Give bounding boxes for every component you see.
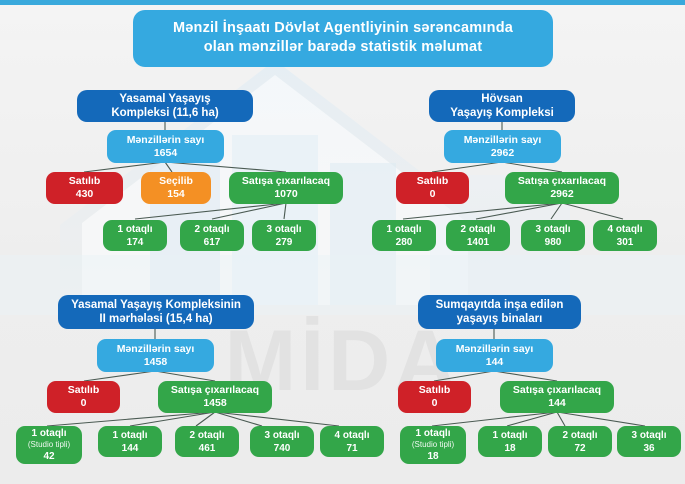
root-label-line-1: Yasamal Yaşayış [119,92,210,106]
sale-value: 2962 [550,188,573,201]
sold-value: 0 [81,397,87,410]
block-sale-sumqayit[interactable]: Satışa çıxarılacaq 144 [500,381,614,413]
block-root-yasamal-2[interactable]: Yasamal Yaşayış Kompleksinin II mərhələs… [58,295,254,329]
room-label: 1 otaqlı [31,427,66,440]
room-box[interactable]: 3 otaqlı 740 [250,426,314,457]
count-value: 144 [486,356,504,369]
room-sublabel: (Studio tipli) [28,440,70,450]
room-label: 3 otaqlı [631,429,666,442]
sold-label: Satılıb [419,384,451,397]
sale-value: 1458 [203,397,226,410]
count-label: Mənzillərin sayı [127,134,205,147]
block-sold-hovsan[interactable]: Satılıb 0 [396,172,469,204]
root-label-line-1: Sumqayıtda inşa edilən [436,298,564,312]
room-value: 279 [276,236,293,249]
room-label: 3 otaqlı [266,223,301,236]
room-value: 1401 [467,236,489,249]
block-sold-yasamal-2[interactable]: Satılıb 0 [47,381,120,413]
sold-label: Satılıb [68,384,100,397]
room-value: 144 [122,442,139,455]
room-box[interactable]: 2 otaqlı 461 [175,426,239,457]
room-value: 980 [545,236,562,249]
room-value: 36 [643,442,654,455]
count-label: Mənzillərin sayı [117,343,195,356]
sale-label: Satışa çıxarılacaq [518,175,606,188]
room-label: 1 otaqlı [415,427,450,440]
count-label: Mənzillərin sayı [464,134,542,147]
sold-value: 430 [76,188,94,201]
room-label: 2 otaqlı [562,429,597,442]
block-sale-hovsan[interactable]: Satışa çıxarılacaq 2962 [505,172,619,204]
room-value: 740 [274,442,291,455]
block-root-yasamal-1[interactable]: Yasamal Yaşayış Kompleksi (11,6 ha) [77,90,253,122]
room-box[interactable]: 2 otaqlı 72 [548,426,612,457]
room-value: 174 [127,236,144,249]
sale-value: 144 [548,397,566,410]
block-selected-yasamal-1[interactable]: Seçilib 154 [141,172,211,204]
room-label: 1 otaqlı [386,223,421,236]
sale-label: Satışa çıxarılacaq [242,175,330,188]
room-label: 1 otaqlı [112,429,147,442]
room-value: 280 [396,236,413,249]
room-value: 617 [204,236,221,249]
selected-label: Seçilib [159,175,193,188]
room-value: 18 [504,442,515,455]
room-label: 2 otaqlı [189,429,224,442]
room-box[interactable]: 1 otaqlı (Studio tipli) 42 [16,426,82,464]
count-value: 1654 [154,147,177,160]
room-box[interactable]: 3 otaqlı 279 [252,220,316,251]
room-box[interactable]: 1 otaqlı 174 [103,220,167,251]
block-root-hovsan[interactable]: Hövsan Yaşayış Kompleksi [429,90,575,122]
sale-label: Satışa çıxarılacaq [171,384,259,397]
page-title-line-2: olan mənzillər barədə statistik məlumat [139,38,547,57]
block-count-yasamal-2[interactable]: Mənzillərin sayı 1458 [97,339,214,372]
room-box[interactable]: 2 otaqlı 1401 [446,220,510,251]
room-value: 301 [617,236,634,249]
room-sublabel: (Studio tipli) [412,440,454,450]
room-label: 1 otaqlı [492,429,527,442]
page-title-line-1: Mənzil İnşaatı Dövlət Agentliyinin sərən… [139,19,547,38]
room-box[interactable]: 2 otaqlı 617 [180,220,244,251]
room-value: 72 [574,442,585,455]
selected-value: 154 [167,188,185,201]
room-box[interactable]: 3 otaqlı 980 [521,220,585,251]
sale-value: 1070 [274,188,297,201]
page-title: Mənzil İnşaatı Dövlət Agentliyinin sərən… [133,10,553,67]
block-count-yasamal-1[interactable]: Mənzillərin sayı 1654 [107,130,224,163]
block-sale-yasamal-1[interactable]: Satışa çıxarılacaq 1070 [229,172,343,204]
room-value: 461 [199,442,216,455]
sale-label: Satışa çıxarılacaq [513,384,601,397]
room-label: 2 otaqlı [194,223,229,236]
room-value: 18 [427,450,438,463]
room-box[interactable]: 1 otaqlı 144 [98,426,162,457]
room-box[interactable]: 3 otaqlı 36 [617,426,681,457]
room-box[interactable]: 4 otaqlı 301 [593,220,657,251]
root-label-line-2: yaşayış binaları [457,312,543,326]
sold-label: Satılıb [417,175,449,188]
room-box[interactable]: 4 otaqlı 71 [320,426,384,457]
root-label-line-2: II mərhələsi (15,4 ha) [99,312,212,326]
room-label: 3 otaqlı [264,429,299,442]
room-label: 2 otaqlı [460,223,495,236]
room-label: 4 otaqlı [334,429,369,442]
root-label-line-1: Yasamal Yaşayış Kompleksinin [71,298,241,312]
infographic-canvas: MİDA [0,0,685,484]
room-box[interactable]: 1 otaqlı 280 [372,220,436,251]
root-label-line-1: Hövsan [481,92,523,106]
block-count-sumqayit[interactable]: Mənzillərin sayı 144 [436,339,553,372]
root-label-line-2: Kompleksi (11,6 ha) [111,106,218,120]
root-label-line-2: Yaşayış Kompleksi [450,106,554,120]
block-root-sumqayit[interactable]: Sumqayıtda inşa edilən yaşayış binaları [418,295,581,329]
block-sold-yasamal-1[interactable]: Satılıb 430 [46,172,123,204]
count-value: 1458 [144,356,167,369]
sold-value: 0 [432,397,438,410]
room-label: 1 otaqlı [117,223,152,236]
count-label: Mənzillərin sayı [456,343,534,356]
block-count-hovsan[interactable]: Mənzillərin sayı 2962 [444,130,561,163]
sold-label: Satılıb [69,175,101,188]
block-sale-yasamal-2[interactable]: Satışa çıxarılacaq 1458 [158,381,272,413]
block-sold-sumqayit[interactable]: Satılıb 0 [398,381,471,413]
room-box[interactable]: 1 otaqlı 18 [478,426,542,457]
room-value: 71 [346,442,357,455]
count-value: 2962 [491,147,514,160]
room-box[interactable]: 1 otaqlı (Studio tipli) 18 [400,426,466,464]
room-label: 4 otaqlı [607,223,642,236]
room-label: 3 otaqlı [535,223,570,236]
sold-value: 0 [430,188,436,201]
room-value: 42 [43,450,54,463]
